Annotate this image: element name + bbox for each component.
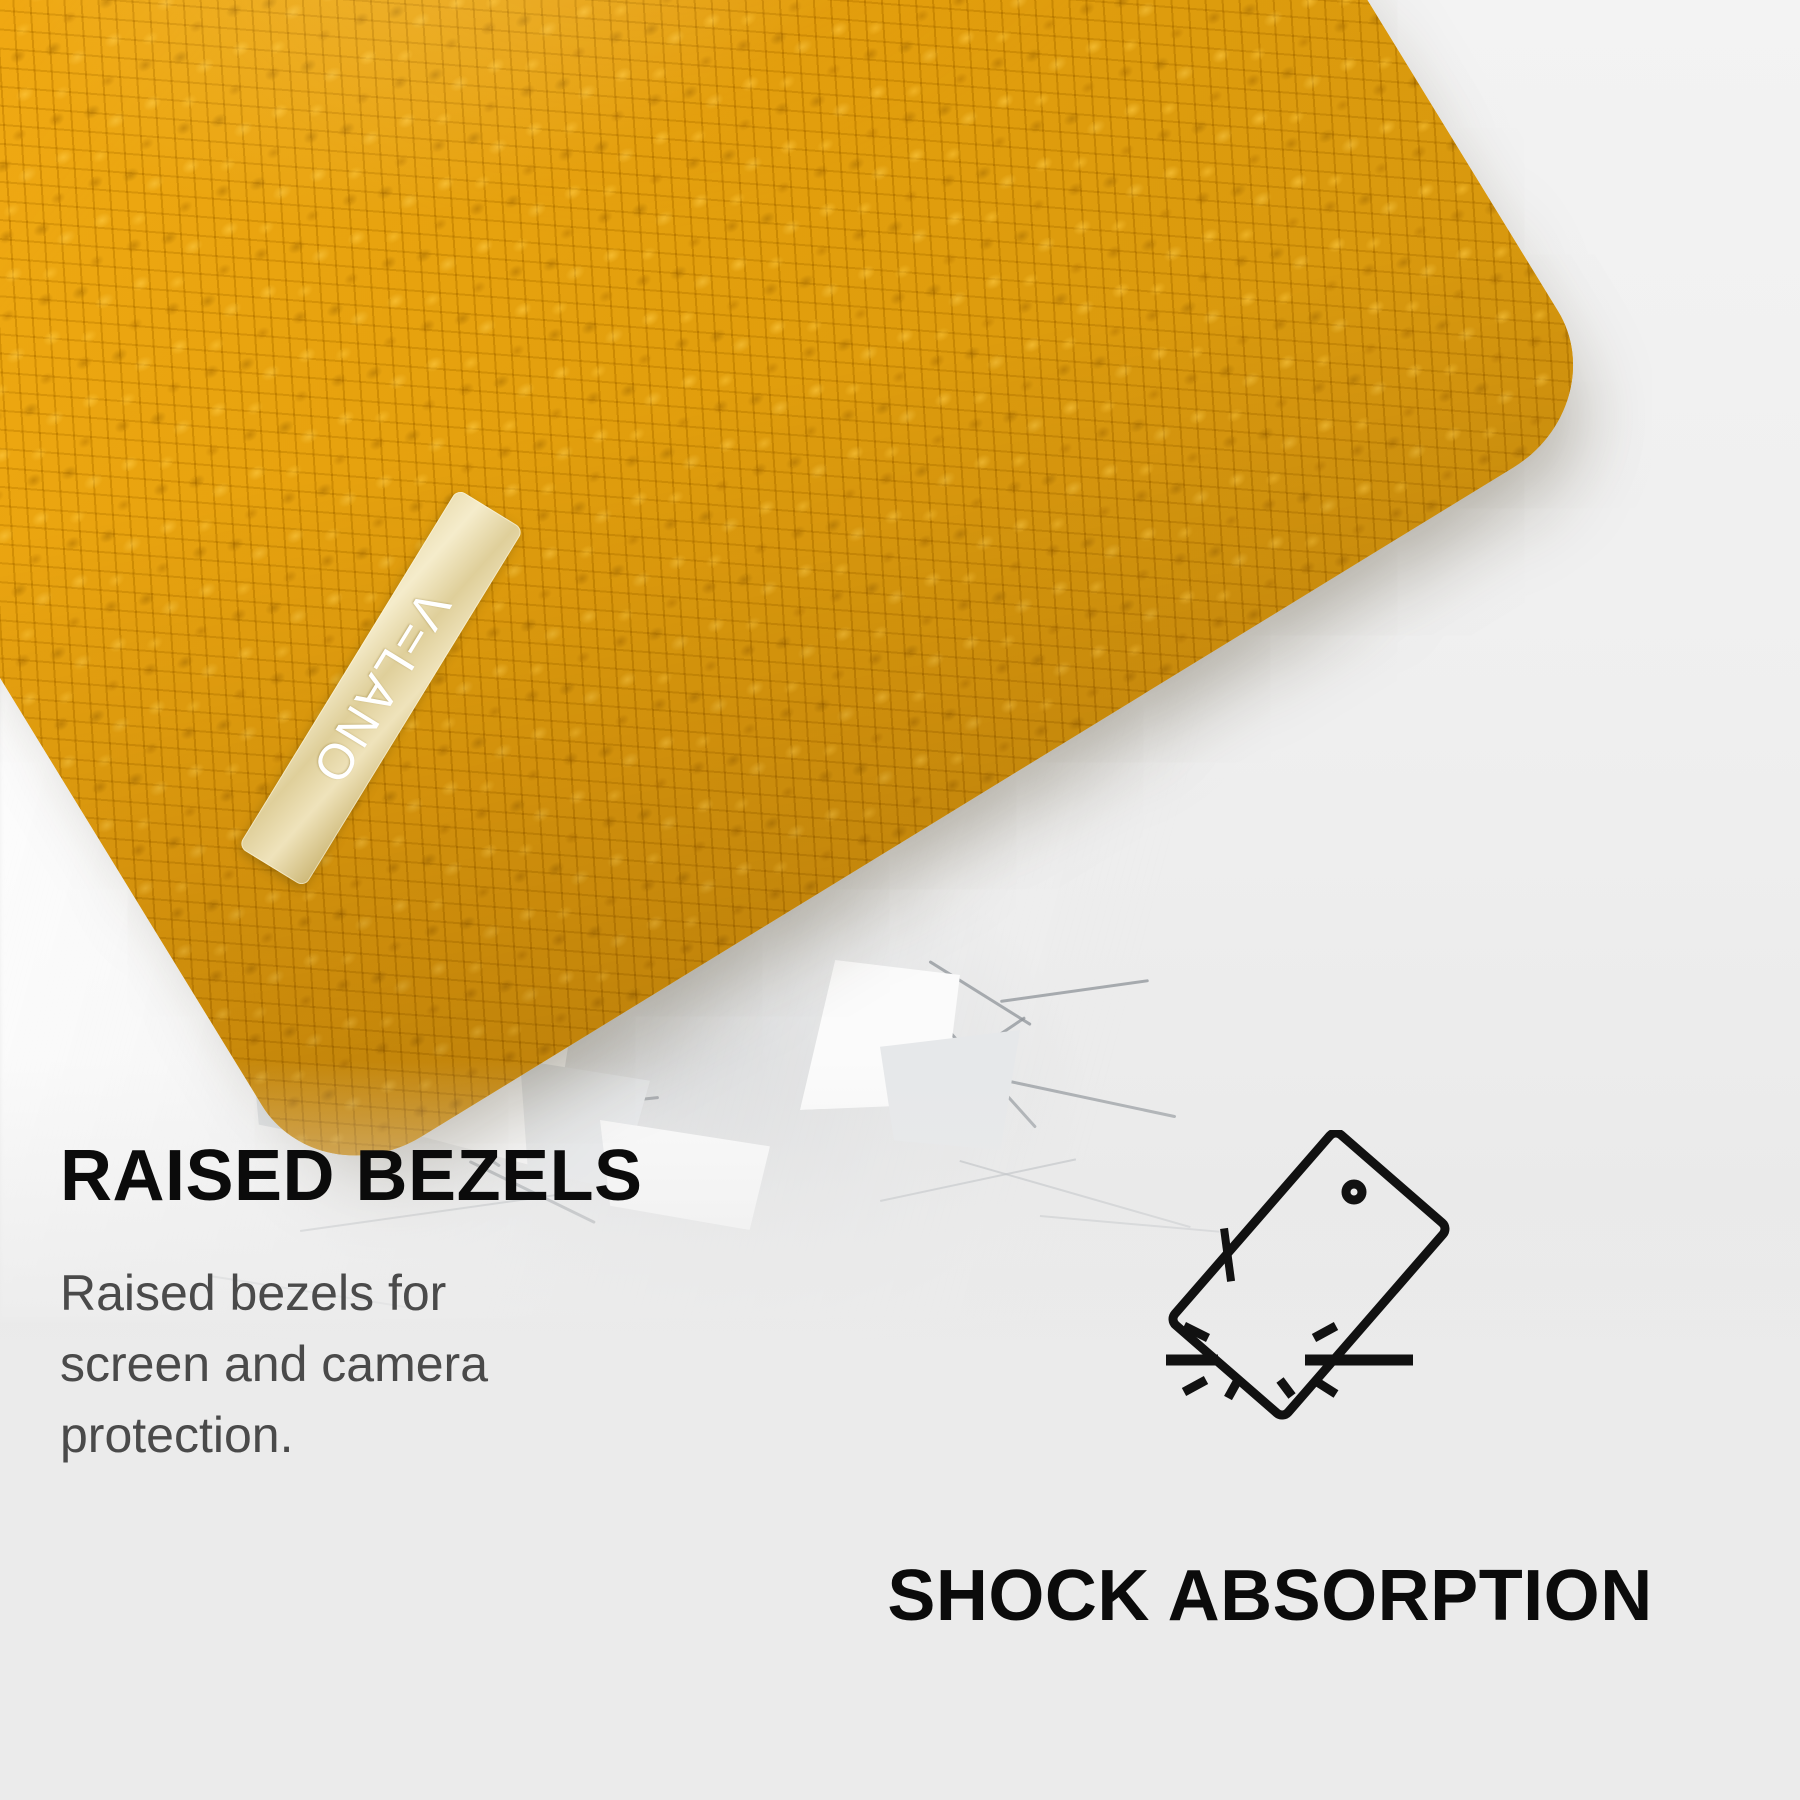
feature-shock-absorption: SHOCK ABSORPTION <box>740 1130 1800 1632</box>
phone-drop-impact-icon <box>1160 1130 1540 1460</box>
phone-outline-icon <box>1170 1130 1449 1418</box>
feature-raised-bezels: RAISED BEZELS Raised bezels for screen a… <box>60 1140 700 1471</box>
raised-bezels-title: RAISED BEZELS <box>60 1140 700 1212</box>
shock-absorption-svg <box>1160 1130 1540 1460</box>
camera-dot-icon <box>1346 1184 1362 1200</box>
raised-bezels-body: Raised bezels for screen and camera prot… <box>60 1258 580 1471</box>
shock-absorption-title: SHOCK ABSORPTION <box>740 1560 1800 1632</box>
product-feature-banner: V=LANO RAISED BEZELS Raised bezels for s… <box>0 0 1800 1800</box>
